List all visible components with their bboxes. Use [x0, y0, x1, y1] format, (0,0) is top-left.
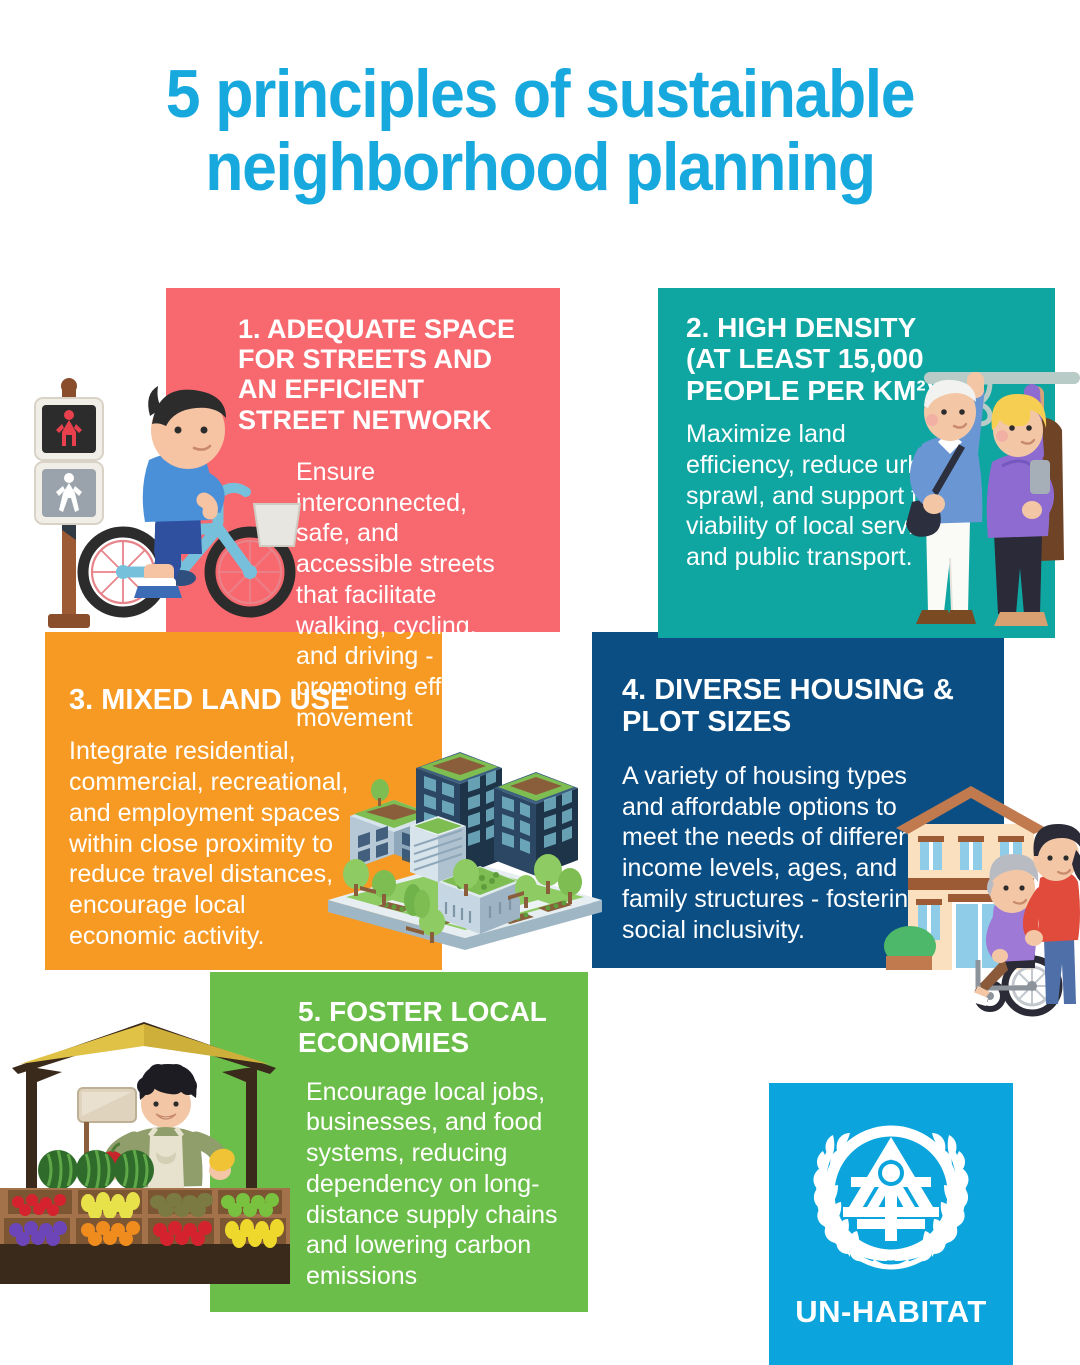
- infographic-canvas: 5 principles of sustainable neighborhood…: [0, 0, 1080, 1350]
- principle-card-4-title: 4. DIVERSE HOUSING & PLOT SIZES: [622, 674, 974, 739]
- page-title-line-2: neighborhood planning: [43, 131, 1037, 204]
- un-habitat-logo: UN-HABITAT: [769, 1083, 1013, 1365]
- two-commuters-holding-transit-handrail-illustration: [898, 358, 1080, 650]
- isometric-city-block-with-green-roofs-illustration: [320, 742, 610, 982]
- un-habitat-emblem-icon: [801, 1111, 981, 1288]
- page-title: 5 principles of sustainable neighborhood…: [43, 58, 1037, 205]
- un-habitat-logo-label: UN-HABITAT: [795, 1294, 987, 1330]
- principle-card-3-body: Integrate residential, commercial, recre…: [69, 736, 359, 951]
- page-title-line-1: 5 principles of sustainable: [43, 58, 1037, 131]
- principle-card-5-title: 5. FOSTER LOCAL ECONOMIES: [298, 996, 572, 1059]
- boy-on-bicycle-with-pedestrian-traffic-signal-illustration: [18, 372, 318, 640]
- principle-card-5-body: Encourage local jobs, businesses, and fo…: [298, 1077, 572, 1292]
- market-stall-vendor-with-fruit-crates-illustration: [0, 1012, 290, 1292]
- house-with-elderly-woman-in-wheelchair-and-caregiver-illustration: [884, 782, 1080, 1022]
